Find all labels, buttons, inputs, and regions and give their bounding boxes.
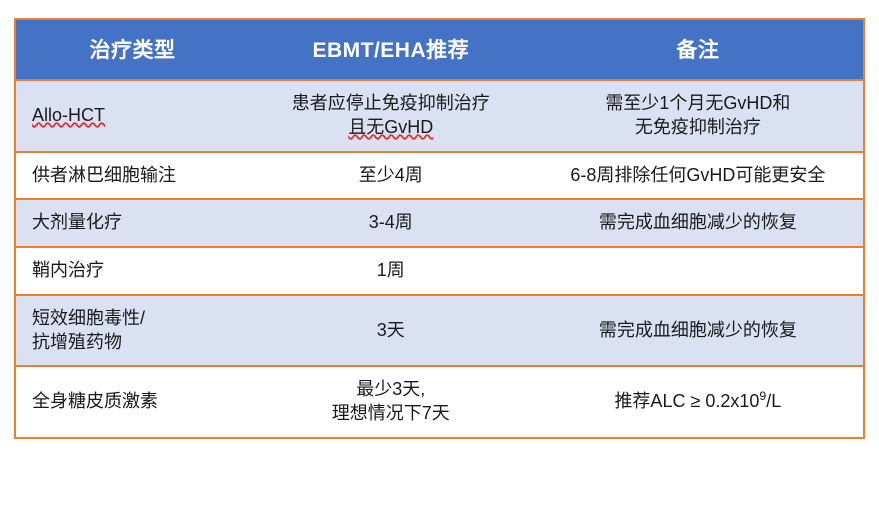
cell-remarks-empty (533, 247, 863, 295)
table-header-row: 治疗类型 EBMT/EHA推荐 备注 (16, 20, 863, 80)
cell-text-line2: 无免疫抑制治疗 (543, 116, 853, 140)
cell-text-line1: 患者应停止免疫抑制治疗 (259, 92, 523, 116)
cell-treatment-type: 鞘内治疗 (16, 247, 249, 295)
cell-text-line1: 全身糖皮质激素 (32, 390, 239, 414)
cell-recommendation: 至少4周 (249, 152, 533, 200)
cell-remarks: 需完成血细胞减少的恢复 (533, 295, 863, 367)
table-row: Allo-HCT 患者应停止免疫抑制治疗 且无GvHD 需至少1个月无GvHD和… (16, 80, 863, 152)
table-row: 鞘内治疗 1周 (16, 247, 863, 295)
cell-text-line2: 理想情况下7天 (259, 402, 523, 426)
cell-text-alc: 推荐ALC ≥ 0.2x109/L (543, 390, 853, 414)
cell-text-line1: 3天 (259, 319, 523, 343)
table-row: 短效细胞毒性/ 抗增殖药物 3天 需完成血细胞减少的恢复 (16, 295, 863, 367)
cell-text-line1: 供者淋巴细胞输注 (32, 164, 239, 188)
cell-remarks: 推荐ALC ≥ 0.2x109/L (533, 366, 863, 437)
treatment-table-container: 治疗类型 EBMT/EHA推荐 备注 Allo-HCT 患者应停止免疫抑制治疗 … (14, 18, 865, 439)
cell-text-line1: 3-4周 (259, 211, 523, 235)
cell-text-line2: 且无GvHD (259, 116, 523, 140)
cell-text-line1: 需完成血细胞减少的恢复 (543, 319, 853, 343)
cell-text-line1: 大剂量化疗 (32, 211, 239, 235)
cell-text-line1: 1周 (259, 259, 523, 283)
cell-recommendation: 3天 (249, 295, 533, 367)
cell-text-line1: 6-8周排除任何GvHD可能更安全 (543, 164, 853, 188)
column-header-ebmt-eha-recommendation: EBMT/EHA推荐 (249, 20, 533, 80)
table-row: 全身糖皮质激素 最少3天, 理想情况下7天 推荐ALC ≥ 0.2x109/L (16, 366, 863, 437)
cell-text-line1: 至少4周 (259, 164, 523, 188)
table-header: 治疗类型 EBMT/EHA推荐 备注 (16, 20, 863, 80)
cell-remarks: 需至少1个月无GvHD和 无免疫抑制治疗 (533, 80, 863, 152)
cell-text-line1: 需至少1个月无GvHD和 (543, 92, 853, 116)
cell-treatment-type: 大剂量化疗 (16, 199, 249, 247)
cell-treatment-type: 全身糖皮质激素 (16, 366, 249, 437)
cell-remarks: 6-8周排除任何GvHD可能更安全 (533, 152, 863, 200)
alc-unit: /L (766, 391, 781, 411)
cell-treatment-type: 供者淋巴细胞输注 (16, 152, 249, 200)
cell-text-line1: 最少3天, (259, 378, 523, 402)
table-row: 大剂量化疗 3-4周 需完成血细胞减少的恢复 (16, 199, 863, 247)
column-header-treatment-type: 治疗类型 (16, 20, 249, 80)
cell-text-line1: Allo-HCT (32, 104, 239, 128)
cell-remarks: 需完成血细胞减少的恢复 (533, 199, 863, 247)
cell-treatment-type: 短效细胞毒性/ 抗增殖药物 (16, 295, 249, 367)
cell-recommendation: 1周 (249, 247, 533, 295)
cell-recommendation: 最少3天, 理想情况下7天 (249, 366, 533, 437)
cell-recommendation: 患者应停止免疫抑制治疗 且无GvHD (249, 80, 533, 152)
cell-text-line1: 短效细胞毒性/ (32, 307, 239, 331)
table-body: Allo-HCT 患者应停止免疫抑制治疗 且无GvHD 需至少1个月无GvHD和… (16, 80, 863, 437)
cell-recommendation: 3-4周 (249, 199, 533, 247)
column-header-remarks: 备注 (533, 20, 863, 80)
cell-text-line1: 需完成血细胞减少的恢复 (543, 211, 853, 235)
cell-text-line1: 鞘内治疗 (32, 259, 239, 283)
cell-treatment-type: Allo-HCT (16, 80, 249, 152)
cell-text-line2: 抗增殖药物 (32, 331, 239, 355)
table-row: 供者淋巴细胞输注 至少4周 6-8周排除任何GvHD可能更安全 (16, 152, 863, 200)
treatment-table: 治疗类型 EBMT/EHA推荐 备注 Allo-HCT 患者应停止免疫抑制治疗 … (16, 20, 863, 437)
alc-text: 推荐ALC ≥ 0.2x10 (614, 391, 759, 411)
page-root: 治疗类型 EBMT/EHA推荐 备注 Allo-HCT 患者应停止免疫抑制治疗 … (0, 0, 879, 524)
